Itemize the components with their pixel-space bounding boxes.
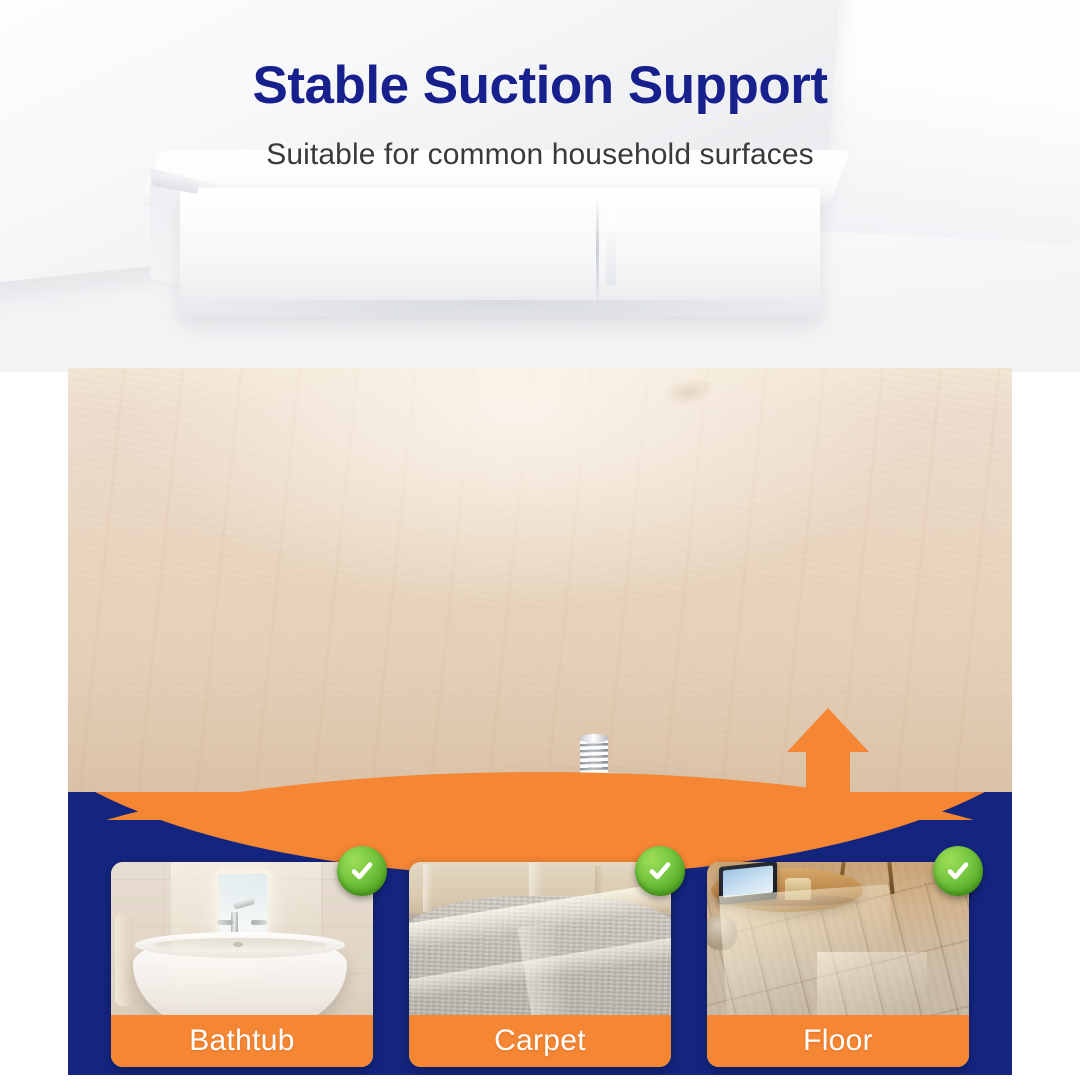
arrow-stem [806, 751, 850, 793]
appliance-drop-shadow [150, 300, 850, 334]
card-label-bar: Floor [707, 1015, 969, 1067]
card-label-bar: Bathtub [111, 1015, 373, 1067]
surface-card-list: Bathtub [68, 792, 1012, 1075]
check-icon [635, 846, 685, 896]
page-title: Stable Suction Support [0, 58, 1080, 114]
arrow-head [787, 708, 869, 752]
card-label-text: Carpet [494, 1024, 586, 1058]
hanging-towel [115, 914, 133, 1006]
card-label-text: Bathtub [189, 1024, 295, 1058]
check-icon [933, 846, 983, 896]
fabric-fold [423, 864, 433, 912]
appliance-handle-recess [606, 214, 616, 286]
screw-top-cap [580, 734, 608, 743]
surface-card-floor[interactable]: Floor [707, 862, 969, 1067]
card-label-text: Floor [803, 1024, 873, 1058]
card-label-bar: Carpet [409, 1015, 671, 1067]
headline-block: Stable Suction Support Suitable for comm… [0, 58, 1080, 172]
surface-card-bathtub[interactable]: Bathtub [111, 862, 373, 1067]
surfaces-panel: Bathtub [68, 792, 1012, 1075]
check-icon [337, 846, 387, 896]
wood-highlight [68, 368, 1012, 662]
appliance-seam-line [596, 196, 599, 306]
surface-card-carpet[interactable]: Carpet [409, 862, 671, 1067]
appliance-front-face [180, 188, 820, 316]
suction-demo-scene [68, 368, 1012, 820]
card-frame: Carpet [409, 862, 671, 1067]
card-frame: Bathtub [111, 862, 373, 1067]
page-subtitle: Suitable for common household surfaces [0, 138, 1080, 172]
product-feature-page: Stable Suction Support Suitable for comm… [0, 0, 1080, 1080]
card-frame: Floor [707, 862, 969, 1067]
